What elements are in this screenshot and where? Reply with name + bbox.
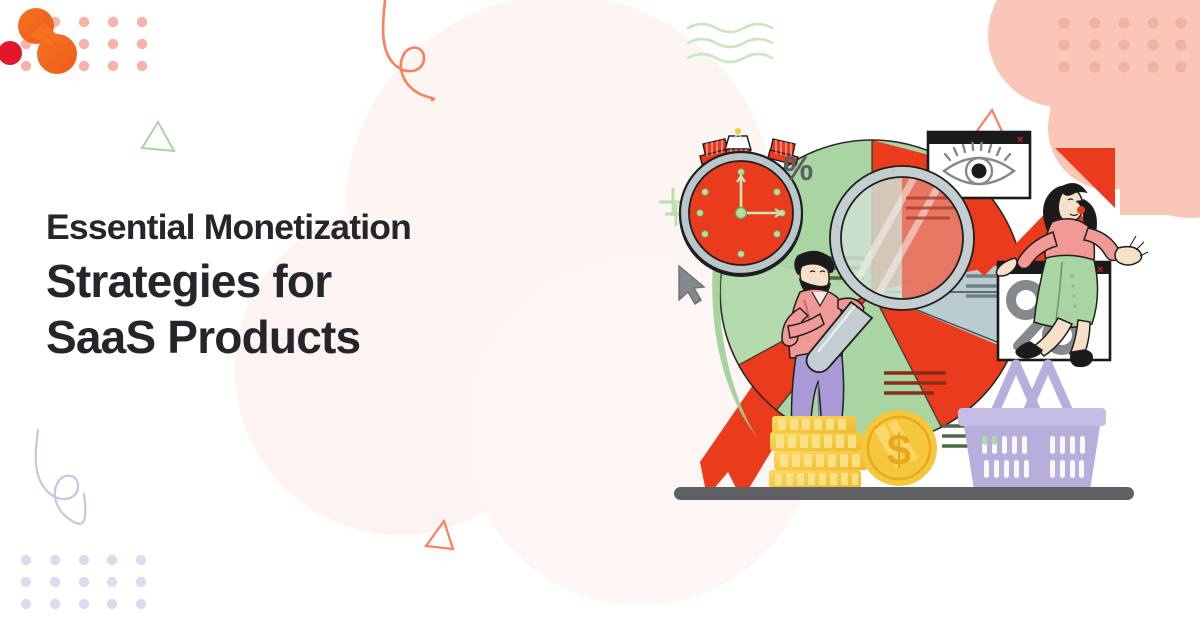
headline-line-3: SaaS Products xyxy=(46,314,516,360)
logo-dumbbell-icon xyxy=(18,8,77,74)
coin-stack-bottom xyxy=(769,470,861,488)
dollar-glyph: $ xyxy=(887,426,911,475)
headline-line-1: Essential Monetization xyxy=(46,210,516,246)
dollar-coin: $ xyxy=(861,410,937,486)
coin-stack-top xyxy=(772,416,856,433)
cursor-arrow xyxy=(679,266,704,304)
poster-canvas: % × xyxy=(0,0,1200,630)
close-icon[interactable]: × xyxy=(1097,264,1103,276)
close-icon[interactable]: × xyxy=(1017,134,1023,146)
logo-dot-icon xyxy=(0,41,22,65)
percent-symbol: % xyxy=(783,150,813,188)
ground-bar xyxy=(674,487,1134,500)
headline-line-2: Strategies for xyxy=(46,258,516,304)
coin-stack-3 xyxy=(774,451,868,470)
coin-stack-2 xyxy=(770,432,862,451)
coin-stacks xyxy=(769,416,868,488)
brand-logo[interactable] xyxy=(0,0,90,80)
page-title: Essential Monetization Strategies for Sa… xyxy=(46,210,516,360)
